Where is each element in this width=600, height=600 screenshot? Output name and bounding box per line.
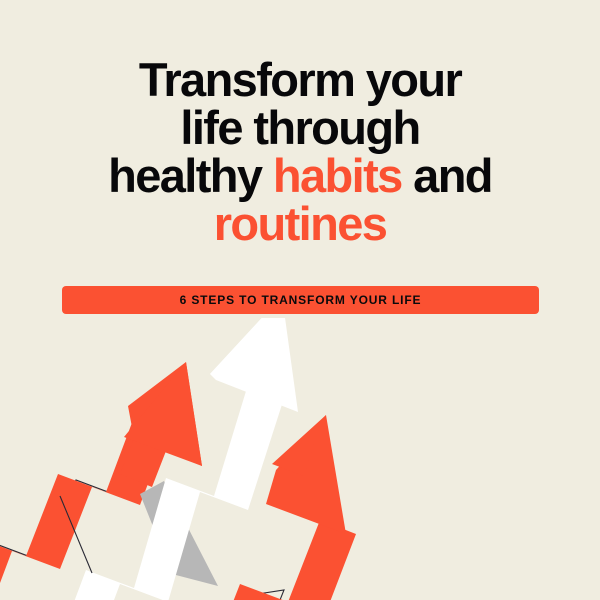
headline-line-1: Transform your — [0, 56, 600, 104]
orange-arrow-right-head — [266, 415, 346, 534]
white-arrow-center — [56, 318, 298, 600]
headline-line-3-suffix: and — [402, 149, 492, 202]
headline-line-1-text: Transform your — [139, 53, 461, 106]
steps-banner-label: 6 STEPS TO TRANSFORM YOUR LIFE — [180, 294, 422, 306]
rising-arrows-illustration — [0, 318, 600, 600]
headline-line-4: routines — [0, 200, 600, 248]
page-title: Transform your life through healthy habi… — [0, 56, 600, 248]
headline-line-3-prefix: healthy — [108, 149, 273, 202]
headline-line-2-text: life through — [180, 101, 419, 154]
headline-line-3: healthy habits and — [0, 152, 600, 200]
headline-accent-routines: routines — [214, 197, 387, 250]
headline-accent-habits: habits — [273, 149, 402, 202]
poster-canvas: Transform your life through healthy habi… — [0, 0, 600, 600]
headline-line-2: life through — [0, 104, 600, 152]
steps-banner[interactable]: 6 STEPS TO TRANSFORM YOUR LIFE — [62, 286, 539, 314]
